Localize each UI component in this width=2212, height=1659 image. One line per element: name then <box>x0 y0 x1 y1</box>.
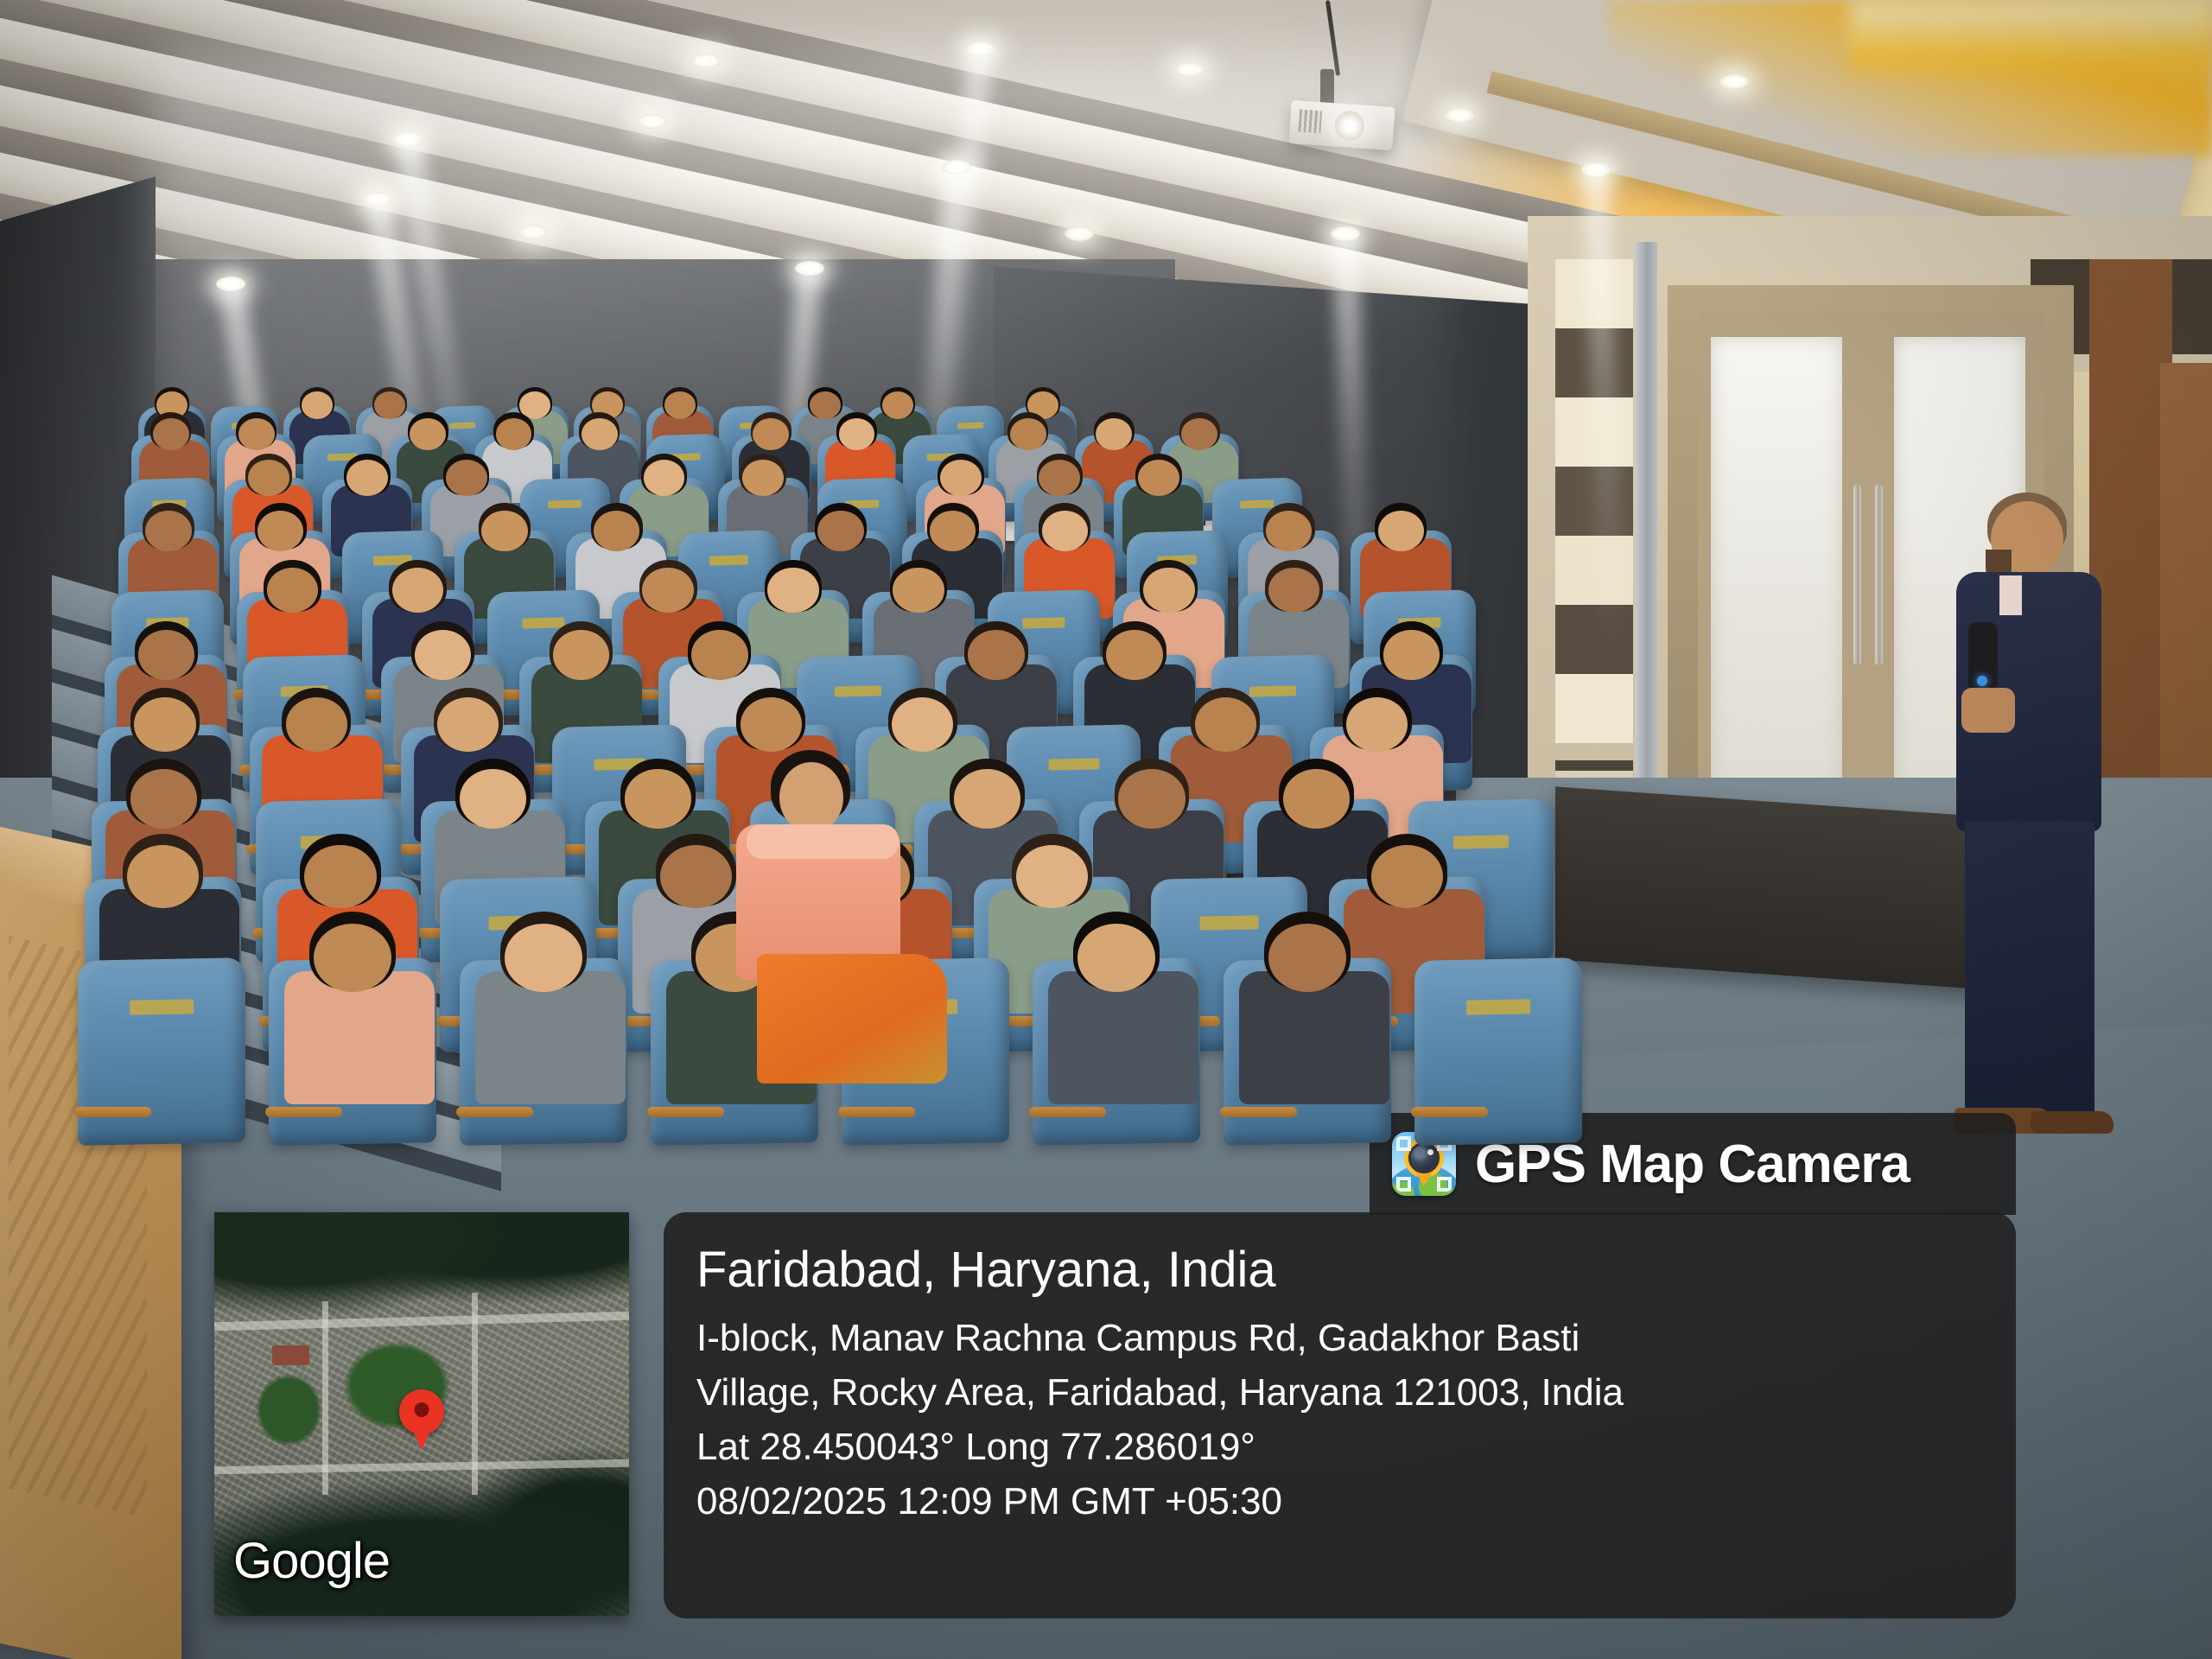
ceiling-spotlight <box>1719 74 1749 89</box>
audience-head <box>496 418 532 450</box>
seat-armrest <box>1411 1107 1488 1117</box>
audience-head <box>940 460 982 496</box>
audience-head <box>1106 630 1163 680</box>
audience-head <box>817 511 864 551</box>
audience-head <box>594 511 640 551</box>
audience-head <box>1042 511 1089 551</box>
ceiling-spotlight <box>1065 226 1094 241</box>
audience-head <box>392 568 444 613</box>
audience-head <box>410 418 446 450</box>
audience-head <box>1378 511 1425 551</box>
audience-head <box>1195 697 1256 752</box>
audience-head <box>893 568 944 613</box>
auditorium-seat <box>78 957 245 1146</box>
audience-member <box>505 912 608 1115</box>
map-thumbnail[interactable]: Google <box>214 1212 629 1616</box>
audience-head <box>954 769 1020 828</box>
audience-head <box>415 630 472 680</box>
auditorium-seat <box>1414 957 1582 1146</box>
audience-head <box>767 568 819 613</box>
audience-head <box>1268 924 1345 992</box>
audience-head <box>238 418 275 450</box>
map-pin-icon <box>399 1389 444 1434</box>
audience-head <box>248 460 289 496</box>
audience-head <box>1383 630 1440 680</box>
audience-head <box>660 845 732 909</box>
audience-head <box>481 511 528 551</box>
attendee-head <box>779 762 843 833</box>
coordinates-label: Lat 28.450043° Long 77.286019° <box>696 1422 1983 1471</box>
viewfinder-bracket-icon <box>1437 1177 1452 1192</box>
audience-head <box>374 391 405 419</box>
speaker-person <box>1946 493 2110 1149</box>
datetime-label: 08/02/2025 12:09 PM GMT +05:30 <box>696 1477 1983 1526</box>
audience-head <box>130 769 197 828</box>
audience-head <box>1143 568 1195 613</box>
attendee-fur-collar <box>747 824 899 859</box>
map-running-track <box>272 1345 309 1365</box>
audience-head <box>346 460 388 496</box>
location-info-panel: Faridabad, Haryana, India I-block, Manav… <box>664 1212 2016 1618</box>
microphone-led <box>1977 676 1987 686</box>
address-line-1: I-block, Manav Rachna Campus Rd, Gadakho… <box>696 1313 1983 1363</box>
ceiling-spotlight <box>518 225 548 239</box>
ceiling-spotlight <box>1175 62 1205 77</box>
audience-head <box>153 418 189 450</box>
map-road <box>472 1293 479 1495</box>
audience-head <box>1138 460 1179 496</box>
audience-head <box>145 511 192 551</box>
audience-head <box>1077 924 1154 992</box>
warm-cove-light-core <box>1849 0 2212 82</box>
audience-head <box>810 391 841 419</box>
front-row-attendee <box>731 750 956 1078</box>
audience-head <box>625 769 691 828</box>
audience-head <box>304 845 376 909</box>
audience-head <box>460 769 526 828</box>
audience-head <box>1181 418 1217 450</box>
map-road <box>322 1301 329 1495</box>
attendee-saree <box>757 954 947 1084</box>
speaker-hand <box>1961 688 2015 733</box>
speaker-trousers <box>1965 821 2094 1115</box>
door-handle <box>1875 484 1883 665</box>
audience-head <box>1371 845 1443 909</box>
door-handle <box>1853 484 1861 665</box>
audience-head <box>741 697 802 752</box>
viewfinder-bracket-icon <box>1396 1177 1411 1192</box>
checker-tile <box>1555 674 1633 743</box>
audience-head <box>257 511 304 551</box>
glass-door-left <box>1711 337 1842 817</box>
audience-head <box>664 391 696 419</box>
audience-head <box>1096 418 1132 450</box>
audience-head <box>1010 418 1046 450</box>
audience-head <box>930 511 976 551</box>
audience-head <box>314 924 391 992</box>
ceiling-spotlight <box>691 54 721 68</box>
audience-head <box>1039 460 1080 496</box>
audience-head <box>1118 769 1185 828</box>
audience-head <box>134 697 195 752</box>
audience-head <box>582 418 618 450</box>
viewfinder-bracket-icon <box>1396 1136 1411 1151</box>
audience-head <box>553 630 610 680</box>
audience-head <box>286 697 347 752</box>
ceiling-projector <box>1288 100 1395 150</box>
audience-head <box>968 630 1025 680</box>
audience-head <box>642 568 694 613</box>
city-label: Faridabad, Haryana, India <box>696 1243 1983 1298</box>
audience-head <box>138 630 195 680</box>
ceiling-spotlight <box>1445 108 1474 123</box>
seat-armrest <box>74 1107 151 1117</box>
ceiling-spotlight <box>638 114 667 129</box>
audience-head <box>302 391 333 419</box>
speaker-shirt-collar <box>1999 575 2022 615</box>
audience-head <box>446 460 487 496</box>
audience-member <box>1268 912 1372 1115</box>
speaker-shoe <box>2031 1111 2113 1134</box>
audience-head <box>505 924 582 992</box>
audience-head <box>1283 769 1350 828</box>
audience-head <box>127 845 199 909</box>
audience-member <box>314 912 417 1115</box>
address-line-2: Village, Rocky Area, Faridabad, Haryana … <box>696 1368 1983 1417</box>
audience-head <box>691 630 748 680</box>
audience-head <box>644 460 685 496</box>
audience-head <box>753 418 789 450</box>
audience-head <box>839 418 875 450</box>
audience-head <box>1266 511 1313 551</box>
camera-lens-icon <box>1411 1145 1437 1171</box>
audience-head <box>1016 845 1088 909</box>
google-watermark: Google <box>233 1532 390 1590</box>
audience-head <box>742 460 784 496</box>
audience-member <box>1077 912 1181 1115</box>
seat-armrest <box>838 1107 915 1117</box>
